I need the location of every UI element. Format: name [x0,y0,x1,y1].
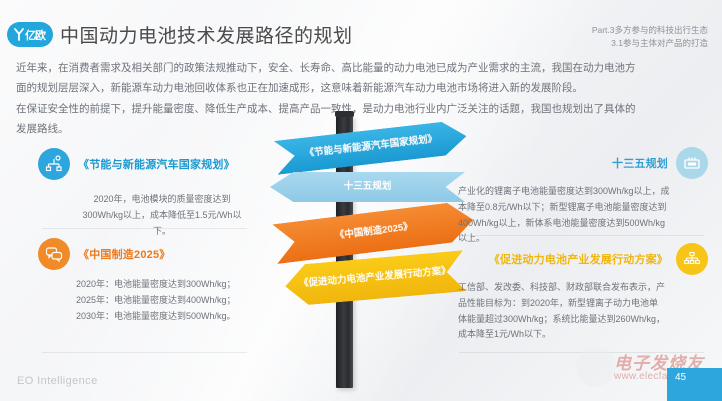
card-13th-five-year-plan-title: 十三五规划 [612,155,668,171]
yiou-logo-icon: 亿欧 [7,22,53,47]
signpost-sign-2: 十三五规划 [270,172,465,202]
footer-brand: EO Intelligence [17,375,98,387]
divider-right-upper [459,235,704,236]
signpost-sign-2-label: 十三五规划 [338,181,398,194]
signpost-sign-4-label: 《促进动力电池产业发展行动方案》 [293,265,458,292]
card-national-plan: 《节能与新能源汽车国家规划》 2020年，电池模块的质量密度达到300Wh/kg… [38,148,248,239]
part-line-1: Part.3多方参与的科技出行生态 [592,24,708,37]
divider-right-lower [459,352,704,353]
card-action-plan-body: 工信部、发改委、科技部、财政部联合发布表示，产品性能目标为：到2020年，新型锂… [458,280,666,343]
page-number: 45 [675,372,686,383]
card-national-plan-body: 2020年，电池模块的质量密度达到300Wh/kg以上，成本降低至1.5元/Wh… [76,192,248,239]
card-13th-five-year-plan-head: 十三五规划 [458,147,708,179]
card-action-plan: 《促进动力电池产业发展行动方案》 工信部、发改委、科技部、财政部联合发布表示，产… [458,243,708,343]
part-label: Part.3多方参与的科技出行生态 3.1参与主体对产品的打造 [592,24,708,50]
card-made-in-china-2025-title: 《中国制造2025》 [78,246,170,262]
card-made-in-china-2025: 《中国制造2025》 2020年：电池能量密度达到300Wh/kg； 2025年… [38,238,248,324]
watermark-badge-icon [576,347,616,387]
org-chart-icon [676,243,708,275]
card-13th-five-year-plan: 十三五规划 产业化的锂离子电池能量密度达到300Wh/kg以上，成本降至0.8元… [458,147,708,247]
svg-text:亿欧: 亿欧 [25,28,46,42]
network-node-icon [38,148,70,180]
card-made-in-china-2025-head: 《中国制造2025》 [38,238,248,270]
signpost-sign-1-label: 《节能与新能源汽车国家规划》 [298,132,444,161]
card-13th-five-year-plan-body: 产业化的锂离子电池能量密度达到300Wh/kg以上，成本降至0.8元/Wh以下；… [458,184,670,247]
signpost-pole-cap [335,111,354,117]
intro-line-1: 近年来，在消费者需求及相关部门的政策法规推动下，安全、长寿命、高比能量的动力电池… [16,58,706,78]
slide-canvas: 亿欧 中国动力电池技术发展路径的规划 Part.3多方参与的科技出行生态 3.1… [0,0,722,401]
battery-box-icon [676,147,708,179]
divider-left-upper [42,228,247,229]
intro-line-3: 在保证安全性的前提下，提升能量密度、降低生产成本、提高产品一致性，是动力电池行业… [16,99,706,119]
card-action-plan-title: 《促进动力电池产业发展行动方案》 [489,251,668,267]
card-national-plan-head: 《节能与新能源汽车国家规划》 [38,148,248,180]
card-national-plan-title: 《节能与新能源汽车国家规划》 [78,156,235,172]
intro-line-2: 面的规划层层深入，新能源车动力电池回收体系也正在加速成形，这意味着新能源汽车动力… [16,78,706,98]
card-made-in-china-2025-body: 2020年：电池能量密度达到300Wh/kg； 2025年：电池能量密度达到40… [76,277,248,324]
divider-left-lower [42,352,247,353]
page-number-block: 45 [667,368,722,401]
part-line-2: 3.1参与主体对产品的打造 [592,37,708,50]
intro-paragraph: 近年来，在消费者需求及相关部门的政策法规推动下，安全、长寿命、高比能量的动力电池… [16,58,706,140]
chat-bubbles-icon [38,238,70,270]
page-title: 中国动力电池技术发展路径的规划 [60,21,353,48]
signpost-sign-3-label: 《中国制造2025》 [328,220,419,244]
card-action-plan-head: 《促进动力电池产业发展行动方案》 [458,243,708,275]
